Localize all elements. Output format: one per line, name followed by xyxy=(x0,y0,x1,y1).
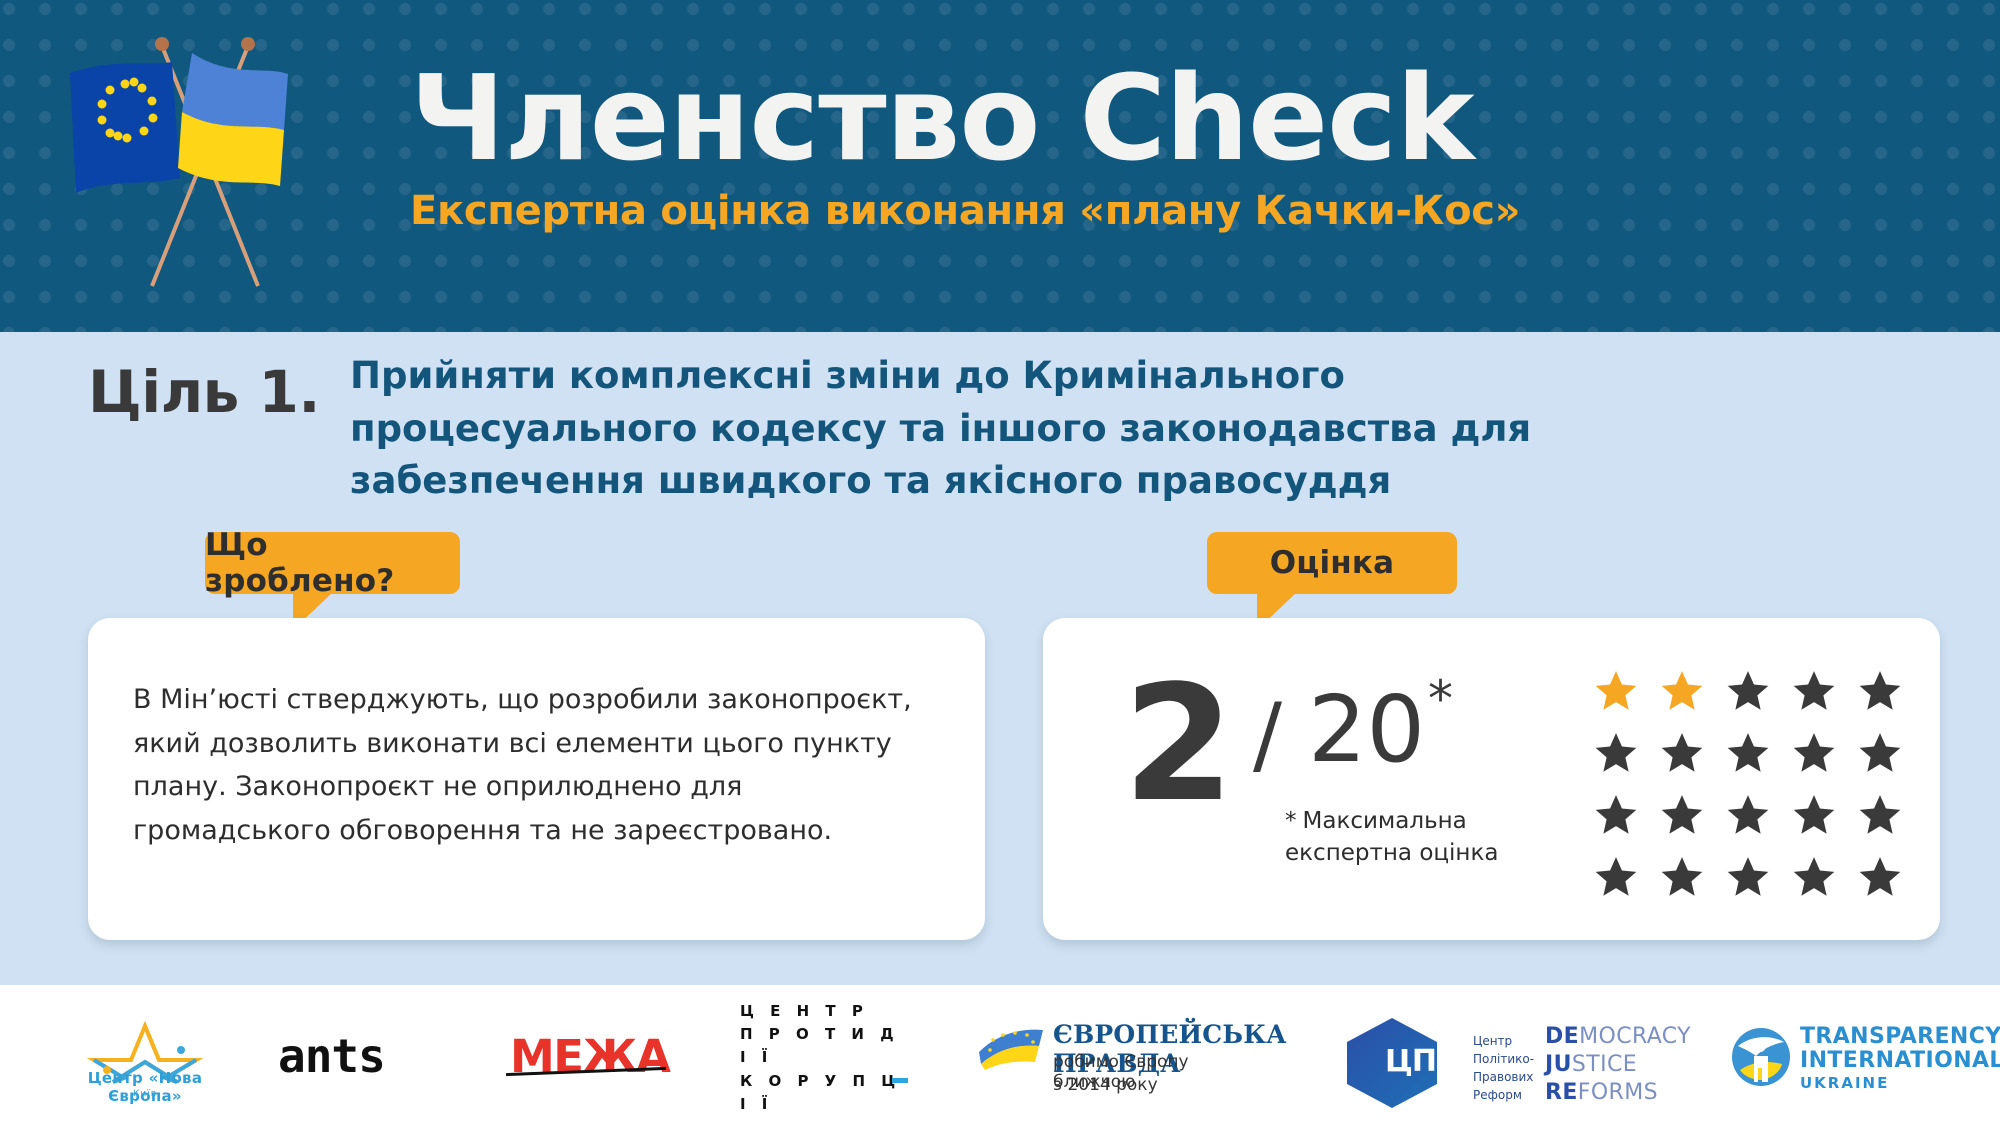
logo-nova-evropa-caption: Центр «Нова Європа» xyxy=(55,1069,235,1105)
star-empty-icon xyxy=(1593,730,1639,776)
logo-cppr-side-4: Реформ xyxy=(1473,1088,1522,1102)
logo-ti-line-3: UKRAINE xyxy=(1800,1074,1889,1092)
star-empty-icon xyxy=(1659,854,1705,900)
star-empty-icon xyxy=(1857,730,1903,776)
logo-transparency-international-ukraine[interactable]: TRANSPARENCY INTERNATIONAL UKRAINE xyxy=(1730,1022,1980,1104)
score-readout: 2 / 20 * *Максимальна експертна оцінка xyxy=(1103,670,1573,890)
star-empty-icon xyxy=(1659,792,1705,838)
goal-description: Прийняти комплексні зміни до Кримінально… xyxy=(350,350,1700,508)
logo-cppr-side-2: Політико- xyxy=(1473,1052,1534,1066)
logo-ants-text: ants xyxy=(278,1029,385,1083)
logo-evropeiska-pravda[interactable]: ЄВРОПЕЙСЬКА ПРАВДА робимо Європу ближчою… xyxy=(975,1020,1245,1100)
flags-illustration xyxy=(40,18,380,298)
infographic-page: Членство Check Експертна оцінка виконанн… xyxy=(0,0,2000,1125)
logo-cpk-dash-icon xyxy=(892,1078,908,1083)
score-value: 2 xyxy=(1123,664,1234,824)
score-footnote: *Максимальна експертна оцінка xyxy=(1285,806,1585,869)
star-empty-icon xyxy=(1791,730,1837,776)
logo-djr-row-2: JUSTICE xyxy=(1545,1051,1691,1079)
what-was-done-card: В Мін’юсті стверджують, що розробили зак… xyxy=(88,618,985,940)
logo-democracy-justice-reforms[interactable]: DEMOCRACY JUSTICE REFORMS xyxy=(1545,1020,1725,1110)
logo-cppr-side-3: Правових xyxy=(1473,1070,1533,1084)
logo-anticorruption-center[interactable]: Ц Е Н Т Р П Р О Т И Д І Ї К О Р У П Ц І … xyxy=(740,1022,910,1094)
eu-ua-flag-icon xyxy=(975,1024,1047,1072)
page-title: Членство Check xyxy=(410,58,1970,178)
page-header: Членство Check Експертна оцінка виконанн… xyxy=(0,0,2000,332)
eu-ukraine-flags-icon xyxy=(40,18,380,298)
logo-djr-row-1-bold: DE xyxy=(1545,1024,1579,1049)
footnote-line-2: експертна оцінка xyxy=(1285,840,1498,866)
score-separator: / xyxy=(1253,692,1282,778)
star-empty-icon xyxy=(1659,730,1705,776)
star-rating-grid xyxy=(1583,660,1913,908)
logo-djr-row-3-rest: FORMS xyxy=(1578,1080,1658,1105)
star-empty-icon xyxy=(1593,854,1639,900)
logo-ep-sub-2: з 2014 року xyxy=(1053,1075,1158,1095)
goal-section: Ціль 1. Прийняти комплексні зміни до Кри… xyxy=(0,350,2000,510)
what-was-done-text: В Мін’юсті стверджують, що розробили зак… xyxy=(133,678,933,853)
logo-djr-row-3-bold: RE xyxy=(1545,1080,1578,1105)
logo-nova-evropa-city: Київ xyxy=(55,1089,235,1099)
score-superscript-asterisk: * xyxy=(1428,674,1453,724)
star-empty-icon xyxy=(1857,854,1903,900)
logo-mezha[interactable]: МЕЖА xyxy=(510,1028,660,1084)
star-empty-icon xyxy=(1791,854,1837,900)
logo-ti-line-2: INTERNATIONAL xyxy=(1800,1048,2000,1073)
score-card: 2 / 20 * *Максимальна експертна оцінка xyxy=(1043,618,1940,940)
ti-globe-icon xyxy=(1730,1026,1792,1088)
tab-score[interactable]: Оцінка xyxy=(1207,532,1457,594)
star-empty-icon xyxy=(1593,792,1639,838)
logo-nova-evropa[interactable]: Центр «Нова Європа» Київ xyxy=(55,1005,235,1105)
logo-djr-row-1: DEMOCRACY xyxy=(1545,1023,1691,1051)
star-empty-icon xyxy=(1725,792,1771,838)
logo-cppr-mark: ЦППР xyxy=(1385,1044,1481,1079)
logo-cpk-line-1: Ц Е Н Т Р xyxy=(740,1000,910,1023)
star-empty-icon xyxy=(1791,668,1837,714)
footnote-line-1: Максимальна xyxy=(1303,808,1467,834)
star-empty-icon xyxy=(1725,668,1771,714)
logo-djr-row-2-bold: JU xyxy=(1545,1052,1572,1077)
logo-djr-row-3: REFORMS xyxy=(1545,1079,1691,1107)
goal-number: Ціль 1. xyxy=(88,358,348,426)
logo-cpk-line-3: К О Р У П Ц І Ї xyxy=(740,1070,910,1117)
star-filled-icon xyxy=(1593,668,1639,714)
logo-ants[interactable]: ants xyxy=(278,1030,438,1082)
logo-djr-row-2-rest: STICE xyxy=(1572,1052,1637,1077)
star-empty-icon xyxy=(1725,730,1771,776)
star-empty-icon xyxy=(1725,854,1771,900)
star-empty-icon xyxy=(1791,792,1837,838)
page-subtitle: Експертна оцінка виконання «плану Качки-… xyxy=(410,188,1970,234)
footnote-asterisk: * xyxy=(1285,808,1297,834)
tab-what-was-done[interactable]: Що зроблено? xyxy=(205,532,460,594)
star-filled-icon xyxy=(1659,668,1705,714)
logo-cppr[interactable]: ЦППР Центр Політико- Правових Реформ xyxy=(1335,1014,1535,1110)
star-empty-icon xyxy=(1857,668,1903,714)
logo-cpk-line-2: П Р О Т И Д І Ї xyxy=(740,1023,910,1070)
score-max: 20 xyxy=(1308,684,1425,776)
star-empty-icon xyxy=(1857,792,1903,838)
logo-ti-line-1: TRANSPARENCY xyxy=(1800,1024,2000,1049)
logo-djr-row-1-rest: MOCRACY xyxy=(1579,1024,1691,1049)
logo-cppr-side-1: Центр xyxy=(1473,1034,1512,1048)
title-block: Членство Check Експертна оцінка виконанн… xyxy=(410,58,1970,234)
